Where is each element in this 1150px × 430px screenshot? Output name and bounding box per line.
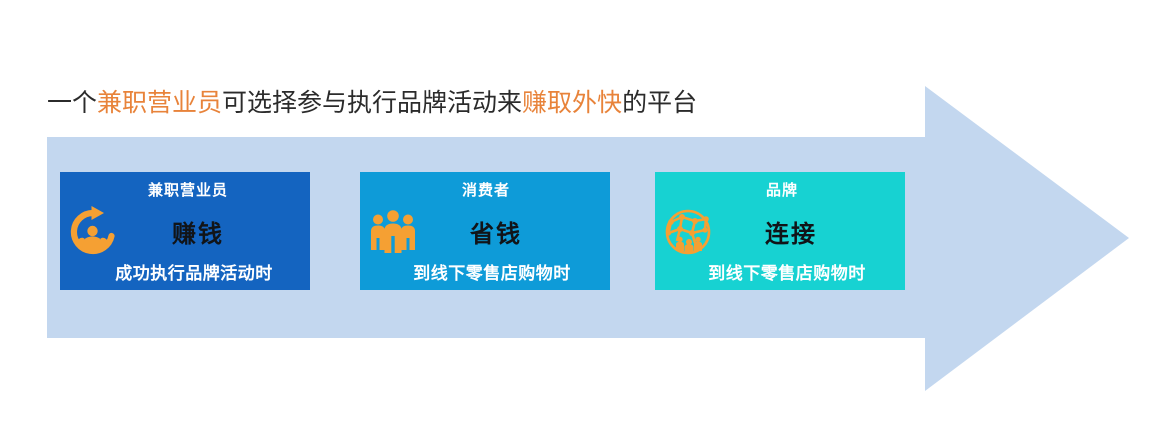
benefit-card-part-time-promoter[interactable]: 兼职营业员 赚钱 成功执行品牌活动时 [60, 172, 310, 290]
card-header-label: 兼职营业员 [60, 179, 310, 200]
card-caption-label: 成功执行品牌活动时 [60, 259, 310, 284]
card-header-label: 品牌 [655, 179, 905, 200]
card-caption-label: 到线下零售店购物时 [360, 259, 610, 284]
diagram-canvas: 一个兼职营业员可选择参与执行品牌活动来赚取外快的平台 兼职营业员 赚钱 成 [0, 0, 1150, 430]
card-main-label: 连接 [655, 214, 905, 249]
card-caption-label: 到线下零售店购物时 [655, 259, 905, 284]
card-main-label: 赚钱 [60, 214, 310, 249]
card-main-label: 省钱 [360, 214, 610, 249]
benefit-card-brand[interactable]: 品牌 [655, 172, 905, 290]
benefit-card-consumer[interactable]: 消费者 省钱 到线下零售店购物时 [360, 172, 610, 290]
card-header-label: 消费者 [360, 179, 610, 200]
